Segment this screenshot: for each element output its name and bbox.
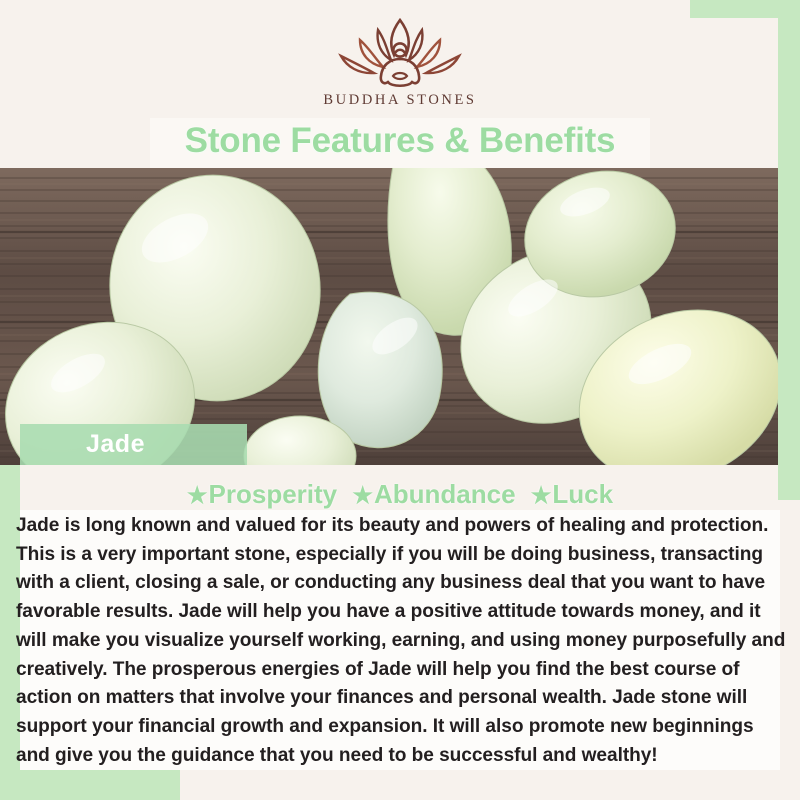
keyword-label: Abundance — [374, 479, 516, 509]
stone-info-card: BUDDHA STONES Stone Features & Benefits — [0, 0, 800, 800]
lotus-meditation-figure-icon — [325, 14, 475, 90]
keyword-abundance: ★Abundance — [352, 479, 515, 509]
keyword-list: ★Prosperity ★Abundance ★Luck — [0, 478, 800, 511]
decor-band-bottom — [0, 768, 180, 800]
brand-name: BUDDHA STONES — [285, 92, 515, 109]
brand-header: BUDDHA STONES — [0, 0, 800, 120]
brand-logo: BUDDHA STONES — [285, 14, 515, 109]
stone-photo — [0, 168, 778, 465]
keyword-luck: ★Luck — [531, 479, 613, 509]
star-icon: ★ — [352, 482, 373, 508]
jade-stones-image — [0, 168, 778, 465]
star-icon: ★ — [187, 482, 208, 508]
star-icon: ★ — [531, 482, 552, 508]
keyword-label: Prosperity — [209, 479, 338, 509]
page-title: Stone Features & Benefits — [0, 118, 800, 164]
stone-name: Jade — [86, 427, 145, 462]
keyword-label: Luck — [552, 479, 613, 509]
keyword-prosperity: ★Prosperity — [187, 479, 337, 509]
description-text: Jade is long known and valued for its be… — [16, 512, 788, 770]
